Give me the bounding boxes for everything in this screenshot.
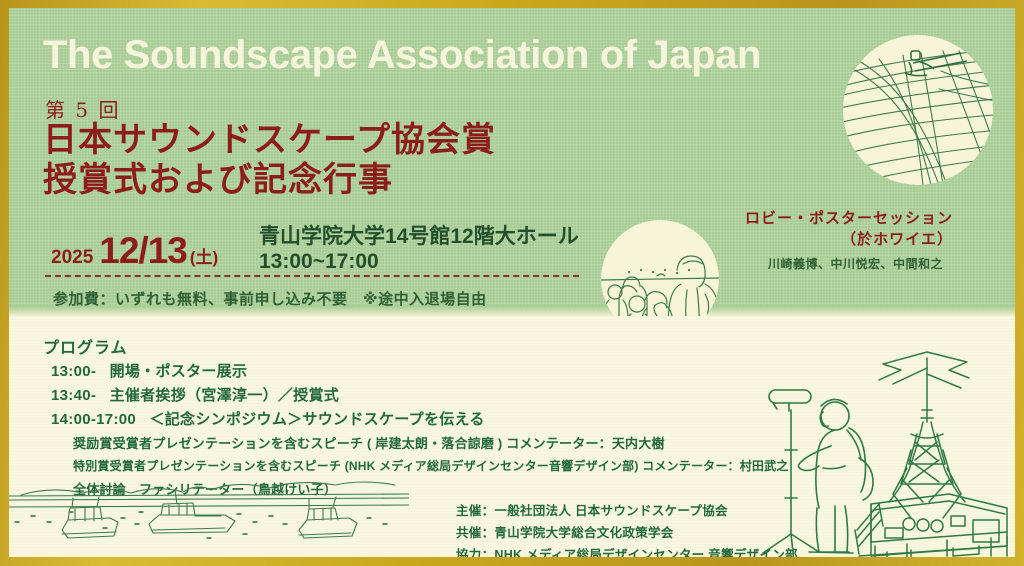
program-row: 14:00-17:00 ＜記念シンポジウム＞サウンドスケープを伝える [51,408,485,432]
poster-session-names: 川崎義博、中川悦宏、中間和之 [768,255,943,272]
program-time: 13:40- [51,384,96,408]
program-time: 14:00-17:00 [51,408,136,432]
program-detail-row: 奨励賞受賞者プレゼンテーションを含むスピーチ ( 岸建太朗・落合諒磨 ) コメン… [73,432,789,455]
poster-session-title: ロビー・ポスターセッション （於ホワイエ） [745,208,953,250]
poster-inner: The Soundscape Association of Japan 第 5 … [9,8,1015,557]
program-row: 13:40- 主催者挨拶（宮澤淳一）／授賞式 [51,384,485,408]
program-list: 13:00- 開場・ポスター展示 13:40- 主催者挨拶（宮澤淳一）／授賞式 … [51,360,485,432]
program-row: 13:00- 開場・ポスター展示 [51,360,485,384]
event-weekday: (土) [190,243,218,268]
poster: The Soundscape Association of Japan 第 5 … [0,0,1024,566]
fishing-boats-seascape-illustration [9,478,409,557]
broadcast-tower-illustration [855,352,1007,557]
program-heading: プログラム [43,334,128,358]
event-venue: 青山学院大学14号館12階大ホール 13:00~17:00 [259,224,579,274]
program-time: 13:00- [51,360,96,384]
event-date: 2025 12/13 (土) [51,230,218,272]
event-year: 2025 [51,247,93,269]
field-recordist-with-microphone-illustration [763,390,873,553]
program-text: ＜記念シンポジウム＞サウンドスケープを伝える [149,411,484,428]
field-recordist-and-tower-illustration [739,338,1009,557]
event-day: 12/13 [99,230,187,272]
fee-note: 参加費：いずれも無料、事前申し込み不要 ※途中入退場自由 [53,288,487,309]
program-text: 主催者挨拶（宮澤淳一）／授賞式 [110,387,340,404]
program-text: 開場・ポスター展示 [110,363,248,380]
edition-label: 第 5 回 [45,94,120,123]
page-title: The Soundscape Association of Japan [43,33,761,78]
circular-roof-lattice-illustration [843,35,993,185]
divider [45,275,579,277]
japanese-title: 日本サウンドスケープ協会賞 授賞式および記念行事 [43,120,496,200]
program-detail-row: 特別賞受賞者プレゼンテーションを含むスピーチ (NHK メディア総局デザインセン… [73,455,789,478]
